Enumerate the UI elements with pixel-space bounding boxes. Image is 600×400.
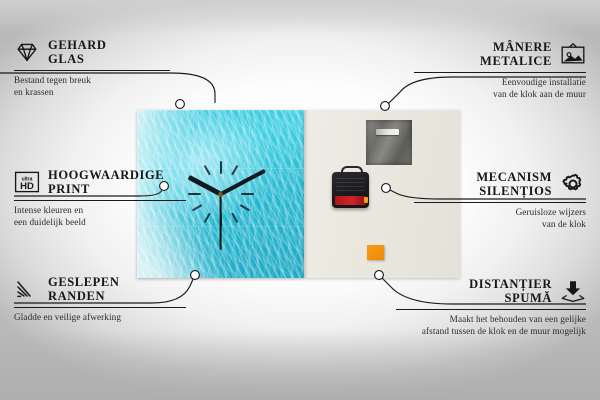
feature-gehard-glas: GEHARDGLAS Bestand tegen breuk en krasse… — [14, 38, 170, 99]
feature-heading: MÂNEREMETALICE — [414, 40, 586, 68]
svg-text:HD: HD — [20, 181, 34, 192]
feature-description: Intense kleuren en een duidelijk beeld — [14, 204, 186, 229]
beveled-edges-icon — [14, 277, 40, 301]
feature-heading: GESLEPENRANDEN — [14, 275, 186, 303]
feature-underline — [414, 202, 586, 203]
metal-hanger-plate — [366, 120, 412, 165]
feature-title: MECANISMSILENȚIOS — [476, 170, 552, 198]
mechanism-vents — [336, 178, 365, 192]
battery — [335, 196, 366, 205]
feature-title: DISTANȚIERSPUMĂ — [469, 277, 552, 305]
feature-underline — [14, 70, 170, 71]
feature-heading: DISTANȚIERSPUMĂ — [396, 277, 586, 305]
feature-title: GESLEPENRANDEN — [48, 275, 120, 303]
feature-description: Geruisloze wijzers van de klok — [414, 206, 586, 231]
download-tray-icon — [560, 279, 586, 303]
clock-center-cap — [218, 192, 223, 197]
mechanism-hook — [341, 166, 363, 177]
background-bottom-shade — [0, 330, 600, 400]
ultra-hd-icon: ultra HD — [14, 170, 40, 194]
foam-spacer — [367, 245, 384, 260]
hanger-slot — [376, 129, 399, 135]
feature-underline — [14, 200, 186, 201]
feature-description: Bestand tegen breuk en krassen — [14, 74, 170, 99]
feature-manere-metalice: MÂNEREMETALICE Eenvoudige installatie va… — [414, 40, 586, 101]
feature-description: Eenvoudige installatie van de klok aan d… — [414, 76, 586, 101]
feature-title: GEHARDGLAS — [48, 38, 106, 66]
diamond-icon — [14, 40, 40, 64]
background-top-shade — [0, 0, 600, 34]
feature-heading: GEHARDGLAS — [14, 38, 170, 66]
picture-frame-icon — [560, 42, 586, 66]
feature-underline — [396, 309, 586, 310]
feature-title: MÂNEREMETALICE — [480, 40, 552, 68]
feature-title: HOOGWAARDIGEPRINT — [48, 168, 164, 196]
feature-mecanism-silentios: MECANISMSILENȚIOS Geruisloze wijzers van… — [414, 170, 586, 231]
feature-underline — [414, 72, 586, 73]
gear-icon — [560, 172, 586, 196]
quartz-mechanism — [332, 172, 369, 208]
clock-second-hand — [220, 194, 222, 250]
feature-geslepen-randen: GESLEPENRANDEN Gladde en veilige afwerki… — [14, 275, 186, 323]
feature-description: Gladde en veilige afwerking — [14, 311, 186, 323]
feature-heading: ultra HD HOOGWAARDIGEPRINT — [14, 168, 186, 196]
feature-underline — [14, 307, 186, 308]
feature-hoogwaardige-print: ultra HD HOOGWAARDIGEPRINT Intense kleur… — [14, 168, 186, 229]
feature-heading: MECANISMSILENȚIOS — [414, 170, 586, 198]
feature-distantier-spuma: DISTANȚIERSPUMĂ Maakt het behouden van e… — [396, 277, 586, 338]
feature-description: Maakt het behouden van een gelijke afsta… — [396, 313, 586, 338]
infographic-canvas: GEHARDGLAS Bestand tegen breuk en krasse… — [0, 0, 600, 400]
